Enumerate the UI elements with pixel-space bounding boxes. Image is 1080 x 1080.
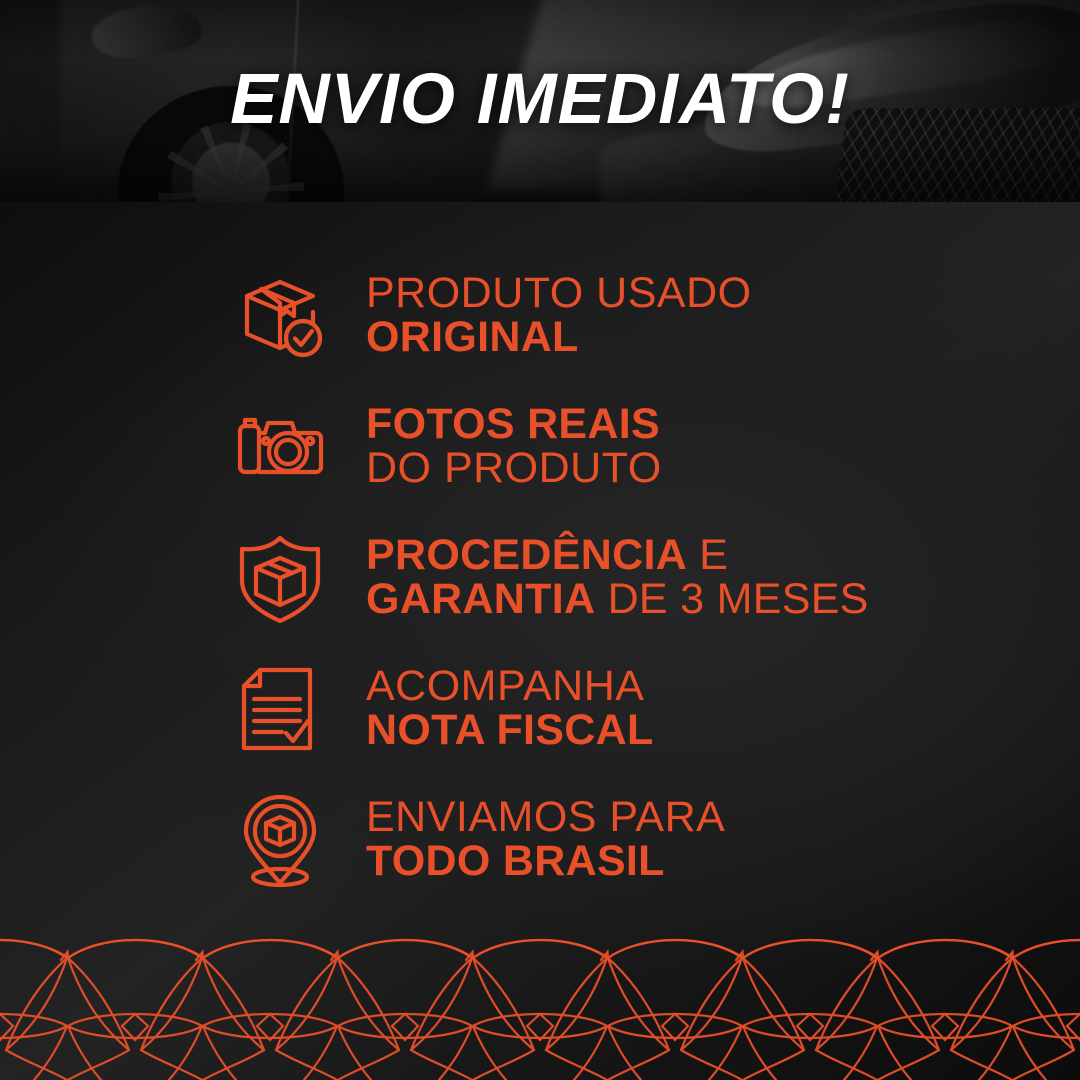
- features-list: PRODUTO USADO ORIGINAL: [0, 202, 1080, 905]
- feature-line-1: ENVIAMOS PARA: [366, 796, 725, 840]
- feature-text: ACOMPANHA NOTA FISCAL: [366, 665, 654, 753]
- feature-line-1: PROCEDÊNCIA E: [366, 534, 869, 578]
- feature-line-2: ORIGINAL: [366, 316, 752, 360]
- feature-line-1: FOTOS REAIS: [366, 403, 662, 447]
- feature-row-fotos-reais: FOTOS REAIS DO PRODUTO: [0, 381, 1080, 512]
- feature-line-2: GARANTIA DE 3 MESES: [366, 578, 869, 622]
- geometric-arc-lattice-icon: [0, 930, 1080, 1080]
- hero-section: ENVIO IMEDIATO!: [0, 0, 1080, 202]
- box-check-icon: [228, 264, 332, 368]
- feature-line-1-bold: PROCEDÊNCIA: [366, 531, 687, 579]
- feature-line-2: NOTA FISCAL: [366, 709, 654, 753]
- document-check-icon: [228, 657, 332, 761]
- feature-text: PRODUTO USADO ORIGINAL: [366, 272, 752, 360]
- feature-line-1: ACOMPANHA: [366, 665, 654, 709]
- feature-text: ENVIAMOS PARA TODO BRASIL: [366, 796, 725, 884]
- feature-text: FOTOS REAIS DO PRODUTO: [366, 403, 662, 491]
- feature-row-procedencia-garantia: PROCEDÊNCIA E GARANTIA DE 3 MESES: [0, 512, 1080, 643]
- feature-line-1-regular: E: [687, 531, 728, 579]
- feature-line-2: TODO BRASIL: [366, 840, 725, 884]
- location-pin-box-icon: [228, 788, 332, 892]
- feature-line-2-regular: DE 3 MESES: [595, 575, 868, 623]
- feature-line-1: PRODUTO USADO: [366, 272, 752, 316]
- footer-pattern: [0, 930, 1080, 1080]
- feature-row-todo-brasil: ENVIAMOS PARA TODO BRASIL: [0, 774, 1080, 905]
- feature-text: PROCEDÊNCIA E GARANTIA DE 3 MESES: [366, 534, 869, 622]
- shield-box-icon: [228, 526, 332, 630]
- feature-row-produto-usado-original: PRODUTO USADO ORIGINAL: [0, 250, 1080, 381]
- promo-banner: ENVIO IMEDIATO! PROD: [0, 0, 1080, 1080]
- feature-line-2-bold: GARANTIA: [366, 575, 595, 623]
- feature-line-2: DO PRODUTO: [366, 447, 662, 491]
- camera-icon: [228, 395, 332, 499]
- feature-row-nota-fiscal: ACOMPANHA NOTA FISCAL: [0, 643, 1080, 774]
- hero-title: ENVIO IMEDIATO!: [0, 64, 1080, 135]
